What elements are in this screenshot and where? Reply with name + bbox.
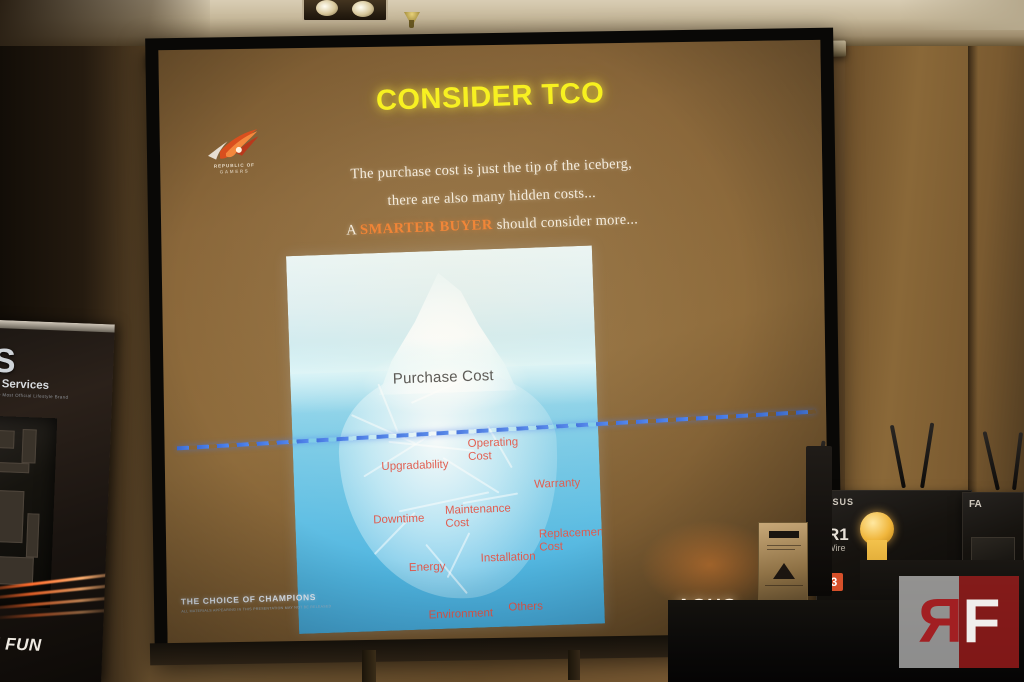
photo-watermark: RF: [899, 576, 1019, 668]
banner-brand-text: US: [0, 341, 15, 382]
router-right-label: FA: [969, 499, 982, 510]
banner-small-tagline: The Most Official Lifestyle Brand: [0, 392, 68, 400]
watermark-letter-f: F: [962, 580, 997, 664]
presentation-photo: REPUBLIC OF GAMERS CONSIDER TCO The purc…: [0, 0, 1024, 682]
watermark-text: RF: [899, 580, 1019, 664]
wall-panel-right: [845, 0, 1024, 560]
banner-subtitle: nd Services: [0, 378, 49, 392]
ceiling-light-icon: [316, 0, 338, 16]
wall-seam: [968, 0, 978, 560]
banner-footer-text: UTE FUN: [0, 633, 42, 656]
product-info-card[interactable]: [758, 522, 808, 602]
screen-stand-leg: [568, 650, 580, 680]
ceiling-light-icon: [352, 1, 374, 17]
ceiling-shadow-right: [900, 0, 1024, 30]
screen-stand-leg: [362, 650, 376, 682]
speaker-stand: [806, 446, 832, 596]
sprinkler-stem: [409, 20, 414, 28]
watermark-letter-r: R: [921, 580, 963, 664]
asus-rollup-banner: US nd Services The Most Official Lifesty…: [0, 320, 115, 682]
ceiling-vent: [302, 0, 388, 22]
banner-motherboard-image: [0, 415, 57, 608]
